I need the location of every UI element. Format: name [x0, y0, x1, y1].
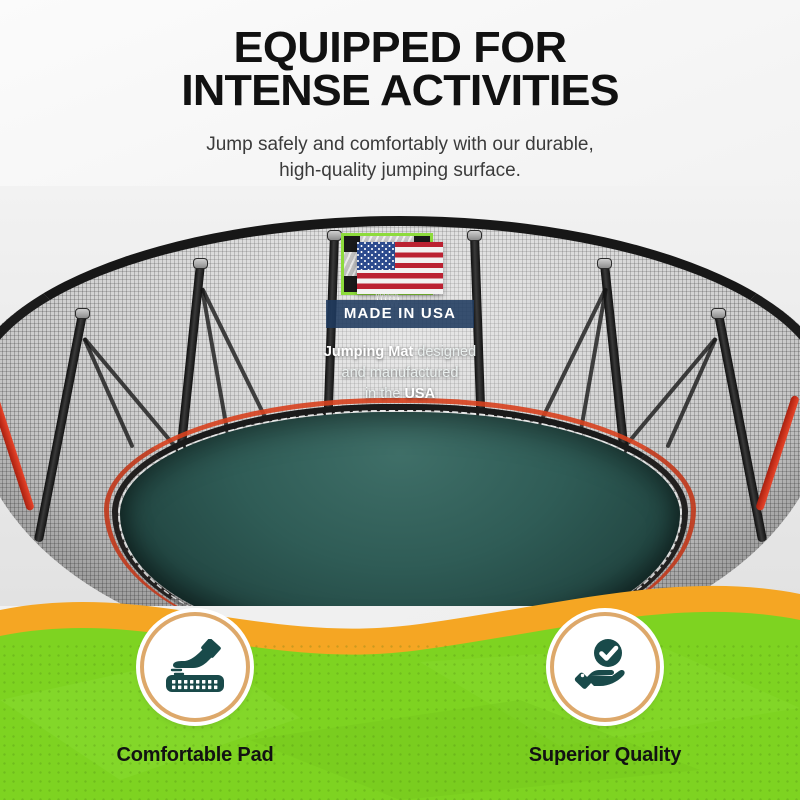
made-in-usa-band: MADE IN USA	[326, 300, 474, 328]
pad-shape	[166, 675, 224, 692]
hand-touching-pad-icon	[163, 639, 227, 695]
caption-rest-designed: designed	[413, 344, 476, 360]
caption-bold-usa: USA	[404, 386, 435, 402]
features-section: Comfortable Pad Superior Quality	[0, 600, 800, 800]
feature-badge-circle	[550, 612, 660, 722]
check-circle	[594, 639, 622, 667]
feature-comfortable-pad[interactable]: Comfortable Pad	[70, 612, 320, 767]
headline-line-2: INTENSE ACTIVITIES	[0, 69, 800, 112]
caption-bold-jumping-mat: Jumping Mat	[324, 344, 413, 360]
jumping-mat-caption: Jumping Mat designed and manufactured in…	[0, 342, 800, 405]
headline: EQUIPPED FOR INTENSE ACTIVITIES	[0, 26, 800, 112]
caption-line-3: in the USA	[0, 384, 800, 405]
caption-rest-in-the: in the	[365, 386, 405, 402]
made-in-usa-block: MADE IN USA Jumping Mat designed and man…	[0, 242, 800, 405]
subtitle-line-2: high-quality jumping surface.	[0, 158, 800, 184]
headline-line-1: EQUIPPED FOR	[233, 23, 566, 72]
pole-cap	[327, 230, 342, 241]
feature-badge-circle	[140, 612, 250, 722]
subtitle: Jump safely and comfortably with our dur…	[0, 132, 800, 184]
usa-flag-icon	[357, 242, 443, 294]
infographic-page: EQUIPPED FOR INTENSE ACTIVITIES Jump saf…	[0, 0, 800, 800]
feature-label: Comfortable Pad	[70, 744, 320, 767]
feature-superior-quality[interactable]: Superior Quality	[480, 612, 730, 767]
pole-cap	[467, 230, 482, 241]
subtitle-line-1: Jump safely and comfortably with our dur…	[0, 132, 800, 158]
hand-holding-checkmark-icon	[574, 637, 636, 697]
caption-line-1: Jumping Mat designed	[0, 342, 800, 363]
caption-line-2: and manufactured	[0, 363, 800, 384]
header-section: EQUIPPED FOR INTENSE ACTIVITIES Jump saf…	[0, 0, 800, 205]
feature-label: Superior Quality	[480, 744, 730, 767]
flag-stars	[357, 242, 395, 270]
